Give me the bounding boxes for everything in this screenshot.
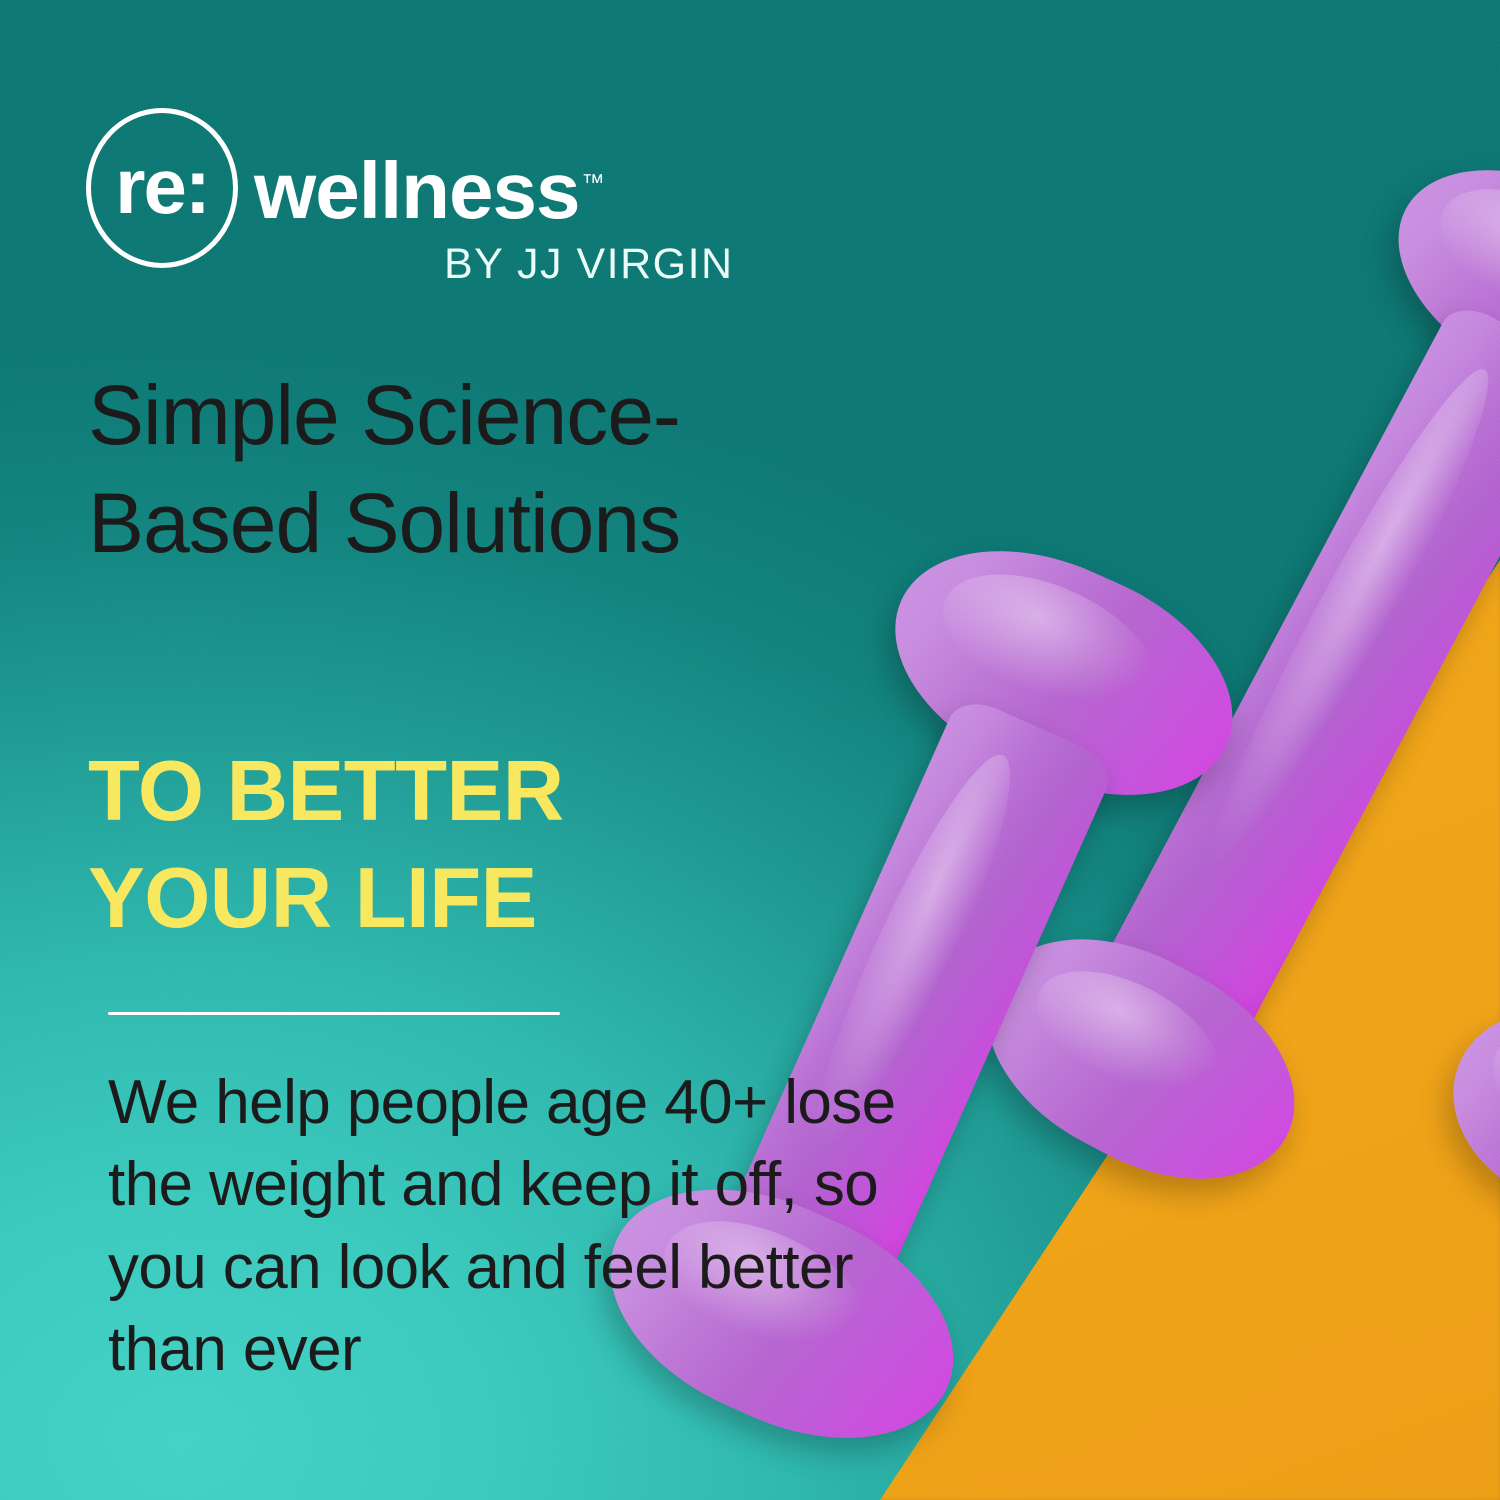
trademark-icon: ™ <box>582 169 605 195</box>
promo-graphic: re: wellness™ BY JJ VIRGIN Simple Scienc… <box>0 0 1500 1500</box>
logo-re-text: re: <box>115 147 209 225</box>
body-paragraph: We help people age 40+ lose the weight a… <box>108 1062 948 1392</box>
headline-accent: TO BETTER YOUR LIFE <box>88 738 808 952</box>
text-content: re: wellness™ BY JJ VIRGIN Simple Scienc… <box>0 0 1000 1500</box>
divider-rule <box>108 1012 560 1015</box>
logo-circle-mark: re: <box>86 108 238 268</box>
logo-wordmark-text: wellness <box>254 146 580 235</box>
logo-wordmark: wellness™ <box>254 151 605 231</box>
brand-byline: BY JJ VIRGIN <box>444 243 734 286</box>
headline-primary: Simple Science-Based Solutions <box>88 362 888 577</box>
